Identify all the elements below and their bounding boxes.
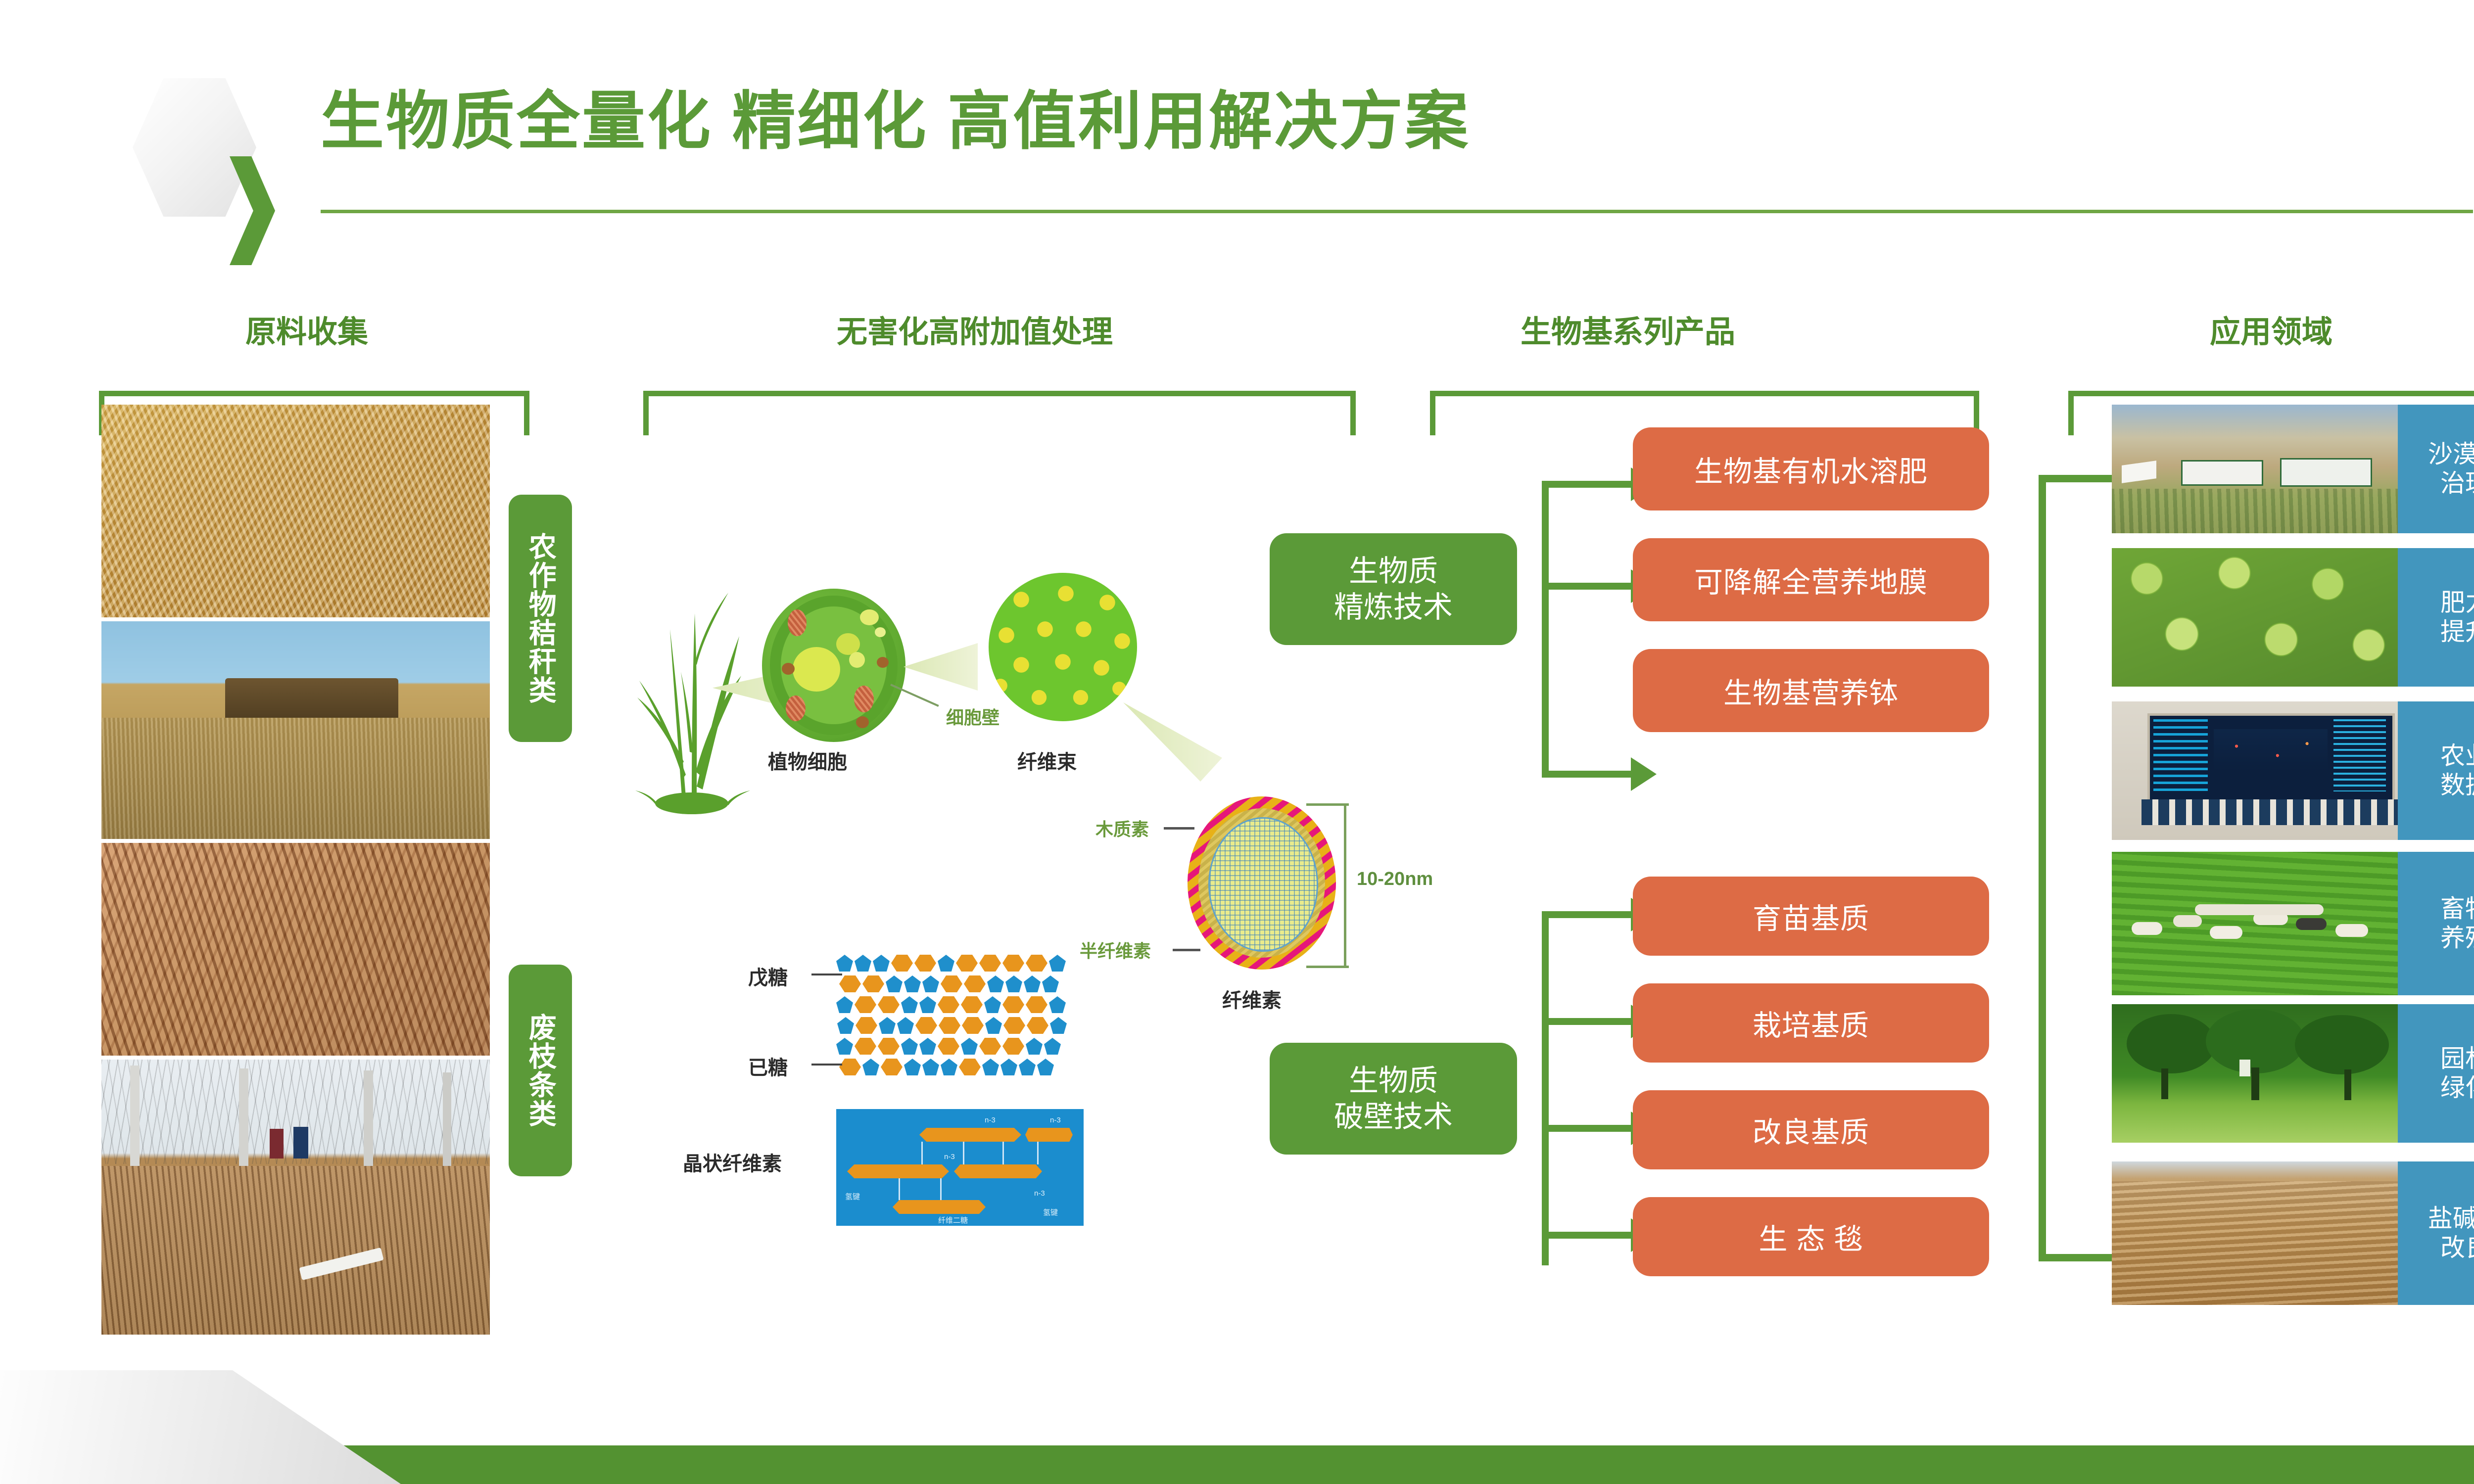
application-tag-landscaping: 园林 绿化 bbox=[2398, 1004, 2474, 1143]
raw-material-tag-cropstraw: 农作物秸秆类 bbox=[509, 495, 572, 742]
cellulose-cross-section-illustration bbox=[1188, 796, 1336, 970]
title-divider bbox=[321, 210, 2473, 213]
application-photo-landscape bbox=[2112, 1004, 2404, 1143]
application-fertility-line2: 提升 bbox=[2440, 617, 2474, 647]
connector-cellwall-arm-1 bbox=[1542, 911, 1636, 918]
application-saline-line1: 盐碱地 bbox=[2428, 1204, 2474, 1233]
technology-cellwall-line2: 破壁技术 bbox=[1334, 1099, 1453, 1135]
application-photo-desert bbox=[2112, 405, 2404, 533]
technology-cellwall-line1: 生物质 bbox=[1334, 1063, 1453, 1099]
connector-cellwall-arm-2 bbox=[1542, 1018, 1636, 1025]
label-plant-cell: 植物细胞 bbox=[768, 746, 847, 775]
technology-box-cellwall: 生物质 破壁技术 bbox=[1270, 1043, 1517, 1155]
sugar-chain-illustration bbox=[836, 955, 1094, 1088]
application-data-line1: 农业 bbox=[2440, 742, 2474, 771]
technology-refining-line2: 精炼技术 bbox=[1334, 589, 1453, 625]
application-desert-line2: 治理 bbox=[2428, 469, 2474, 498]
scale-bar-top-tick bbox=[1306, 803, 1349, 806]
section-title-processing: 无害化高附加值处理 bbox=[703, 307, 1247, 351]
label-hexose: 已糖 bbox=[748, 1052, 788, 1080]
zoom-wedge-3 bbox=[1123, 683, 1222, 782]
connector-refining-spine bbox=[1542, 481, 1549, 778]
raw-material-photo-cornstalk bbox=[101, 405, 490, 617]
applications-bracket bbox=[2039, 475, 2118, 1261]
connector-refining-arm-3 bbox=[1542, 771, 1636, 778]
hexagon-logo-icon bbox=[133, 78, 276, 217]
application-desert-line1: 沙漠化 bbox=[2428, 440, 2474, 469]
label-fiber-bundle: 纤维束 bbox=[1017, 746, 1077, 775]
raw-material-photo-orchard bbox=[101, 1060, 490, 1335]
raw-material-photo-branches bbox=[101, 843, 490, 1056]
application-data-line2: 数据 bbox=[2440, 771, 2474, 800]
crystalline-cellulose-illustration: n-3 n-3 n-3 n-3 氢键 氢键 纤维二糖 bbox=[836, 1109, 1084, 1226]
product-improvement-substrate: 改良基质 bbox=[1633, 1090, 1989, 1169]
connector-cellwall-arm-4 bbox=[1542, 1232, 1636, 1239]
product-bio-nutrient-pot: 生物基营养钵 bbox=[1633, 649, 1989, 732]
connector-cellwall-arm-3 bbox=[1542, 1125, 1636, 1132]
label-cellulose: 纤维素 bbox=[1222, 984, 1282, 1013]
product-ecological-blanket: 生 态 毯 bbox=[1633, 1197, 1989, 1276]
footer-decoration bbox=[0, 1370, 401, 1484]
application-tag-agri-data: 农业 数据 bbox=[2398, 701, 2474, 840]
label-lignin: 木质素 bbox=[1095, 815, 1149, 841]
label-crystalline-cellulose: 晶状纤维素 bbox=[683, 1148, 782, 1176]
page-title: 生物质全量化 精细化 高值利用解决方案 bbox=[321, 90, 1470, 153]
pentose-leader-line bbox=[811, 974, 842, 975]
application-saline-line2: 改良 bbox=[2428, 1233, 2474, 1262]
product-bio-water-soluble-fertilizer: 生物基有机水溶肥 bbox=[1633, 427, 1989, 510]
lignin-leader-line bbox=[1164, 827, 1194, 830]
label-pentose: 戊糖 bbox=[748, 962, 788, 990]
application-photo-livestock bbox=[2112, 852, 2404, 995]
connector-cellwall-spine bbox=[1542, 911, 1549, 1265]
application-livestock-line2: 养殖 bbox=[2440, 924, 2474, 953]
application-tag-desertification: 沙漠化 治理 bbox=[2398, 405, 2474, 533]
product-biodegradable-mulch-film: 可降解全营养地膜 bbox=[1633, 538, 1989, 621]
arrow-refining-3-icon bbox=[1631, 757, 1657, 791]
grass-plant-icon bbox=[622, 539, 771, 816]
hemicellulose-leader-line bbox=[1173, 949, 1200, 951]
application-photo-cabbage bbox=[2112, 548, 2404, 687]
plant-cell-illustration bbox=[762, 589, 905, 742]
application-tag-fertility: 肥力 提升 bbox=[2398, 548, 2474, 687]
technology-refining-line1: 生物质 bbox=[1334, 553, 1453, 589]
section-title-products: 生物基系列产品 bbox=[1410, 307, 1846, 351]
connector-refining-arm-1 bbox=[1542, 481, 1636, 488]
application-landscape-line2: 绿化 bbox=[2440, 1073, 2474, 1103]
section-title-applications: 应用领域 bbox=[2113, 307, 2429, 351]
application-photo-saline-soil bbox=[2112, 1161, 2404, 1305]
scale-bar-bottom-tick bbox=[1306, 966, 1349, 968]
connector-refining-arm-2 bbox=[1542, 583, 1636, 590]
section-title-raw-materials: 原料收集 bbox=[148, 307, 465, 351]
application-photo-datacenter bbox=[2112, 701, 2404, 840]
section-bracket-processing bbox=[643, 391, 1356, 435]
application-tag-saline-alkali: 盐碱地 改良 bbox=[2398, 1161, 2474, 1305]
label-fiber-diameter: 10-20nm bbox=[1357, 869, 1433, 890]
technology-box-refining: 生物质 精炼技术 bbox=[1270, 533, 1517, 645]
raw-material-tag-branches: 废枝条类 bbox=[509, 965, 572, 1176]
scale-bar bbox=[1344, 804, 1346, 968]
raw-material-photo-strawbale bbox=[101, 621, 490, 839]
fiber-bundle-illustration bbox=[989, 573, 1137, 721]
application-tag-livestock: 畜牧 养殖 bbox=[2398, 852, 2474, 995]
page-header: 生物质全量化 精细化 高值利用解决方案 bbox=[0, 0, 2474, 247]
hexose-leader-line bbox=[811, 1064, 842, 1066]
application-landscape-line1: 园林 bbox=[2440, 1044, 2474, 1073]
zoom-wedge-2 bbox=[904, 643, 978, 691]
application-fertility-line1: 肥力 bbox=[2440, 588, 2474, 617]
application-livestock-line1: 畜牧 bbox=[2440, 894, 2474, 924]
product-cultivation-substrate: 栽培基质 bbox=[1633, 983, 1989, 1063]
product-seedling-substrate: 育苗基质 bbox=[1633, 877, 1989, 956]
